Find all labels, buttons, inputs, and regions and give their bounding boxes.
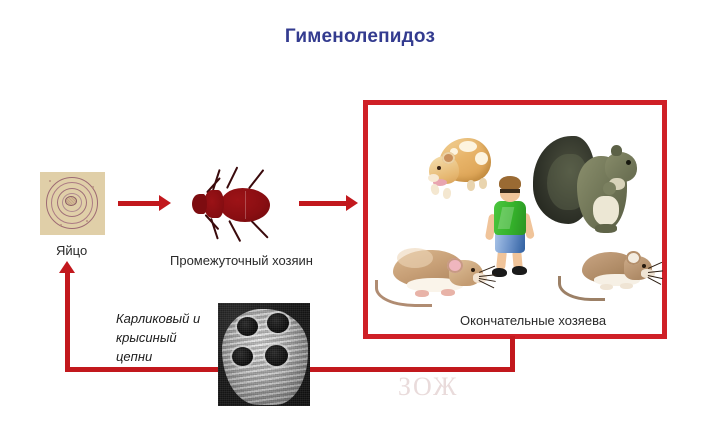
squirrel-head — [605, 152, 637, 182]
egg-label: Яйцо — [56, 243, 87, 258]
rat-back-highlight — [397, 248, 433, 268]
beetle-abdomen — [220, 188, 270, 222]
watermark: ЗОЖ — [398, 372, 458, 402]
mouse-foot — [620, 283, 633, 289]
mouse-ear — [626, 251, 641, 265]
squirrel-paw — [603, 182, 616, 195]
hamster-fur-patch — [475, 152, 488, 165]
beetle-leg — [228, 220, 241, 242]
egg-speck — [86, 220, 88, 222]
rat-eye — [471, 268, 475, 272]
hamster-ear — [442, 152, 455, 164]
rat-ear — [447, 258, 463, 273]
page-title: Гименолепидоз — [0, 26, 720, 48]
boy-shirt — [494, 201, 526, 235]
beetle-leg — [251, 220, 269, 239]
egg-oncosphere-hooks — [65, 196, 77, 206]
hamster-fur-patch — [459, 141, 477, 152]
squirrel-eye — [626, 160, 631, 165]
boy-glasses — [500, 189, 520, 193]
beetle-head — [192, 194, 207, 214]
squirrel-belly — [593, 196, 619, 226]
arrow-egg-to-intermediate-host — [118, 201, 160, 206]
arrow-intermediate-host-to-definitive-hosts — [299, 201, 347, 206]
beetle-thorax — [204, 190, 224, 218]
hamster-nose — [428, 174, 439, 182]
scolex-film-grain — [218, 303, 310, 406]
mouse-foot — [600, 284, 613, 290]
mouse-image — [558, 250, 658, 308]
intermediate-host-label: Промежуточный хозяин — [170, 253, 313, 268]
squirrel-ear — [611, 145, 622, 156]
flour-beetle-image — [182, 168, 292, 244]
beetle-leg — [248, 169, 264, 189]
rat-image — [375, 246, 495, 308]
tapeworm-scolex-image — [218, 303, 310, 406]
rat-foot — [415, 290, 429, 297]
egg-speck — [92, 186, 94, 188]
egg-speck — [49, 180, 51, 182]
rat-foot — [441, 289, 455, 296]
mouse-eye — [642, 264, 646, 268]
egg-speck — [60, 224, 62, 226]
definitive-hosts-label: Окончательные хозяева — [460, 313, 606, 328]
tapeworm-caption-line: цепни — [116, 348, 220, 367]
tapeworm-caption-line: Карликовый и — [116, 310, 220, 329]
squirrel-image — [533, 134, 645, 246]
hamster-eye — [437, 166, 441, 170]
beetle-leg — [226, 166, 238, 188]
boy-shoe-right — [512, 266, 527, 275]
tapeworm-egg-image — [40, 172, 105, 235]
squirrel-foot — [595, 224, 617, 233]
boy-hair — [499, 176, 521, 190]
hamster-paw — [467, 180, 475, 191]
hymenolepiasis-lifecycle-diagram: Гименолепидоз Яйцо Промежуточный хозяин — [0, 0, 720, 444]
hamster-paw — [443, 188, 452, 200]
tapeworm-species-caption: Карликовый и крысиный цепни — [116, 310, 220, 367]
tapeworm-caption-line: крысиный — [116, 329, 220, 348]
arrow-worms-back-to-egg — [65, 272, 70, 372]
